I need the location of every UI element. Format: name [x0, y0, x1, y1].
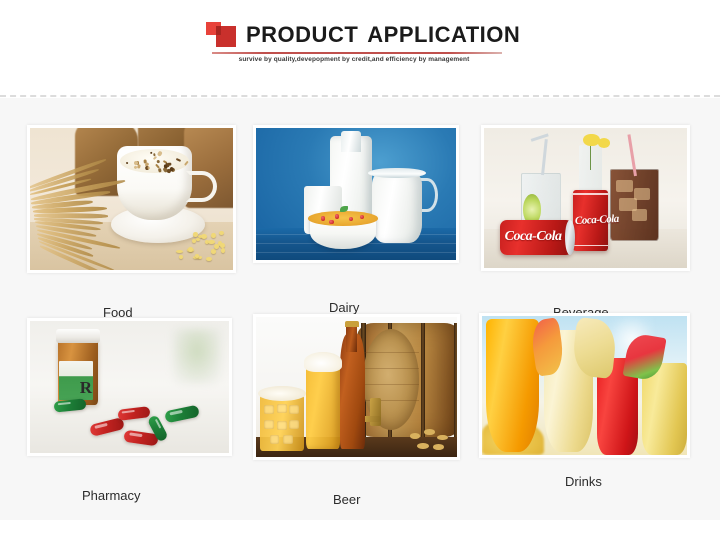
beer-photo: [256, 317, 457, 457]
berry-icon: [321, 216, 326, 221]
barrel-hoop: [454, 323, 457, 438]
cereal-flake-icon: [157, 160, 160, 163]
beverage-thumbnail[interactable]: Coca-Cola Coca-Cola: [481, 125, 690, 271]
cup-handle-icon: [186, 171, 216, 202]
wheat-grain-icon: [405, 423, 457, 457]
mug-dimple: [289, 420, 299, 429]
ice-cube-icon: [616, 180, 633, 193]
background-blur-object: [173, 329, 221, 384]
pasta-piece-icon: [179, 255, 183, 259]
logo-square-overlap: [216, 26, 221, 35]
can-band: [573, 245, 608, 247]
wheat-grain-bit: [417, 443, 428, 449]
gallery-item-drinks[interactable]: Drinks: [479, 313, 690, 458]
mint-leaf-icon: [340, 206, 348, 212]
pasta-piece-icon: [211, 249, 217, 254]
drinks-thumbnail[interactable]: [479, 313, 690, 458]
coca-cola-can-lying-icon: Coca-Cola: [500, 220, 573, 255]
cola-glass-icon: [610, 169, 659, 242]
orange-juice-glass-icon: [486, 319, 539, 452]
pasta-piece-icon: [211, 233, 215, 238]
milk-bottle-neck: [341, 131, 361, 152]
table-plank-line: [256, 252, 456, 253]
wheat-grain-bit: [437, 435, 448, 440]
beer-foam-head: [304, 352, 342, 372]
dairy-photo: [256, 128, 456, 260]
pill-bottle-cap-icon: [56, 329, 100, 344]
pasta-piece-icon: [193, 232, 198, 236]
wheat-stalks-icon: [30, 171, 140, 265]
pasta-pile-icon: [176, 227, 229, 267]
cereal-flake-icon: [157, 151, 163, 158]
barrel-wood-grain: [363, 384, 419, 385]
wheat-grain-bit: [433, 444, 444, 450]
capsule-gloss: [129, 432, 143, 436]
food-photo: [30, 128, 233, 270]
drinks-photo: [482, 316, 687, 455]
mug-dimple: [283, 435, 293, 444]
wheat-grain-bit: [410, 433, 420, 438]
dairy-thumbnail[interactable]: [253, 125, 459, 263]
page-header: PRODUCTAPPLICATION survive by quality,de…: [0, 0, 720, 96]
cornflakes-icon: [308, 211, 378, 226]
mug-dimple: [289, 405, 299, 414]
milk-jug-icon: [372, 172, 422, 243]
pasta-piece-icon: [206, 257, 212, 261]
coca-cola-can-upright-icon: Coca-Cola: [573, 190, 608, 252]
pharmacy-photo: R: [30, 321, 229, 453]
content-panel: Food: [0, 98, 720, 520]
gallery-item-beverage[interactable]: Coca-Cola Coca-Cola Beverage: [481, 125, 690, 271]
cereal-flake-icon: [153, 153, 155, 156]
mug-dimple: [264, 405, 274, 414]
rx-symbol-icon: R: [80, 379, 92, 396]
mug-dimple: [264, 420, 274, 429]
gallery-item-dairy[interactable]: Dairy: [253, 125, 459, 263]
yellow-flower-icon: [598, 138, 610, 148]
can-band: [573, 193, 608, 195]
beer-glass-icon: [306, 362, 340, 449]
berry-icon: [349, 217, 354, 222]
gallery-caption-dairy: Dairy: [329, 300, 359, 315]
pasta-piece-icon: [219, 231, 224, 235]
berry-icon: [360, 215, 365, 220]
beer-bottle-cap-icon: [345, 321, 358, 327]
cereal-flake-icon: [126, 162, 129, 165]
brand-row: PRODUCTAPPLICATION: [206, 18, 502, 48]
red-squares-logo-icon: [206, 20, 240, 48]
berry-icon: [335, 214, 340, 219]
pasta-piece-icon: [188, 247, 192, 252]
wheat-grain-bit: [424, 429, 435, 435]
title-underline-rule: [212, 52, 502, 54]
food-thumbnail[interactable]: [27, 125, 236, 273]
gallery-caption-drinks: Drinks: [565, 474, 602, 489]
coca-cola-wordmark: Coca-Cola: [574, 213, 618, 227]
brand-block: PRODUCTAPPLICATION survive by quality,de…: [206, 18, 502, 48]
page-title: PRODUCTAPPLICATION: [246, 22, 520, 48]
pasta-piece-icon: [220, 243, 225, 248]
mug-dimple: [270, 435, 280, 444]
beer-mug-icon: [260, 395, 304, 451]
gallery-item-beer[interactable]: Beer: [253, 314, 460, 460]
tap-spout: [363, 416, 381, 422]
cereal-milk-surface: [120, 149, 189, 173]
berry-icon: [329, 220, 334, 225]
barrel-tap-icon: [361, 398, 393, 437]
jug-rim: [368, 168, 426, 179]
page-title-word-one: PRODUCT: [246, 22, 358, 47]
pasta-piece-icon: [176, 250, 182, 253]
pasta-piece-icon: [195, 254, 200, 258]
product-application-page: PRODUCTAPPLICATION survive by quality,de…: [0, 0, 720, 542]
mug-dimple: [277, 421, 287, 430]
gallery-caption-beer: Beer: [333, 492, 360, 507]
capsule-gloss: [58, 402, 71, 406]
pharmacy-thumbnail[interactable]: R: [27, 318, 232, 456]
cereal-flake-icon: [133, 161, 138, 165]
cereal-flake-icon: [175, 158, 180, 162]
capsule-gloss: [169, 410, 183, 415]
pasta-piece-icon: [192, 239, 196, 243]
brand-subtitle: survive by quality,devepopment by credit…: [206, 56, 502, 63]
gallery-item-pharmacy[interactable]: R Pharmacy: [27, 318, 232, 456]
pasta-piece-icon: [221, 248, 225, 252]
capsule-gloss: [122, 410, 135, 414]
pasta-piece-icon: [208, 240, 215, 244]
pasta-piece-icon: [196, 238, 201, 241]
beer-bottle-neck: [346, 324, 357, 352]
ice-cube-icon: [632, 209, 647, 220]
cereal-flake-icon: [149, 152, 151, 154]
cereal-flake-icon: [134, 166, 138, 170]
mug-foam-head: [258, 386, 306, 401]
barrel-wood-grain: [363, 368, 419, 369]
barrel-wood-grain: [363, 352, 419, 353]
product-application-grid: Food: [0, 98, 720, 520]
gallery-item-food[interactable]: Food: [27, 125, 236, 273]
pasta-piece-icon: [201, 234, 207, 239]
beer-thumbnail[interactable]: [253, 314, 460, 460]
page-title-word-two: APPLICATION: [367, 22, 520, 47]
coca-cola-wordmark: Coca-Cola: [505, 229, 562, 245]
mug-dimple: [277, 404, 287, 413]
gallery-caption-pharmacy: Pharmacy: [82, 488, 141, 503]
capsule-gloss: [94, 423, 108, 429]
barrel-hoop: [421, 323, 425, 438]
beverage-photo: Coca-Cola Coca-Cola: [484, 128, 687, 268]
header-dashed-divider: [0, 95, 720, 97]
pasta-piece-icon: [214, 244, 219, 249]
cereal-flake-icon: [158, 168, 161, 172]
